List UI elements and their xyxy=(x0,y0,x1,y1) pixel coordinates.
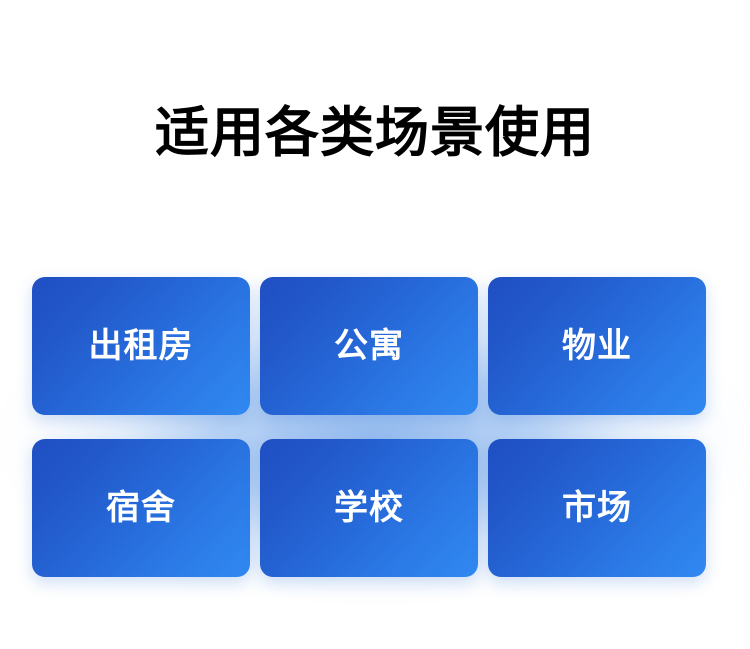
scene-card-market[interactable]: 市场 xyxy=(488,439,706,577)
page-title: 适用各类场景使用 xyxy=(155,106,595,160)
scene-card-label: 公寓 xyxy=(334,329,404,363)
scene-showcase-page: 适用各类场景使用 出租房 公寓 物业 宿舍 学校 市场 xyxy=(0,0,750,649)
scene-card-label: 物业 xyxy=(562,329,632,363)
scene-card-school[interactable]: 学校 xyxy=(260,439,478,577)
scene-card-dormitory[interactable]: 宿舍 xyxy=(32,439,250,577)
scene-card-grid: 出租房 公寓 物业 宿舍 学校 市场 xyxy=(32,277,706,577)
scene-card-apartment[interactable]: 公寓 xyxy=(260,277,478,415)
scene-card-label: 学校 xyxy=(334,491,404,525)
scene-card-property[interactable]: 物业 xyxy=(488,277,706,415)
scene-card-label: 市场 xyxy=(562,491,632,525)
scene-card-label: 出租房 xyxy=(89,329,194,363)
scene-card-rental-house[interactable]: 出租房 xyxy=(32,277,250,415)
page-title-container: 适用各类场景使用 xyxy=(0,0,750,250)
scene-card-label: 宿舍 xyxy=(106,491,176,525)
